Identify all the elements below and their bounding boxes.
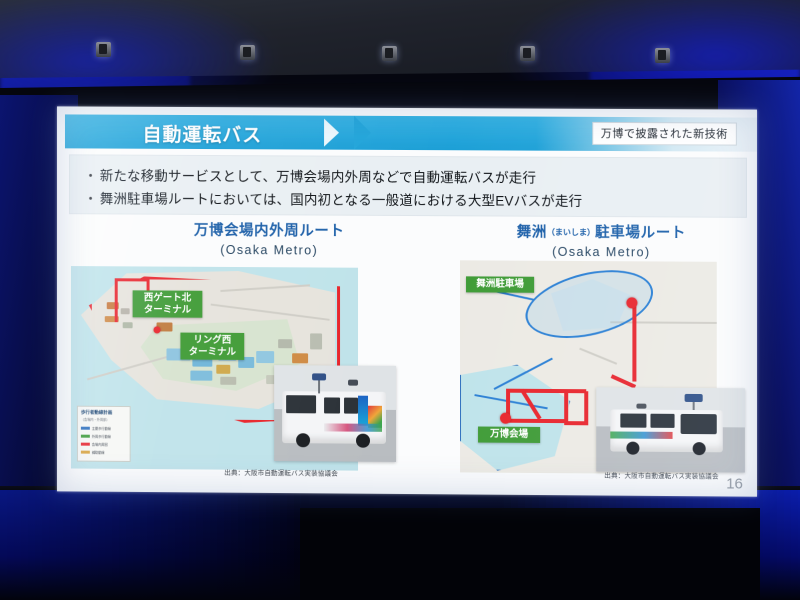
curtain-pleat [70,490,77,600]
curtain-pleat [182,490,189,600]
curtain-pleat [791,490,798,600]
slide: 自動運転バス 万博で披露された新技術 ・新たな移動サービスとして、万博会場内外周… [57,106,757,496]
curtain-pleat [105,490,112,600]
ceiling-spotlight [96,42,111,57]
curtain-pleat [175,490,182,600]
map-label-expo-site: 万博会場 [478,427,540,443]
ceiling-spotlight [520,46,535,61]
bus-wheel [693,442,706,455]
route-segment [115,278,149,281]
curtain-pleat [7,490,14,600]
legend-swatch [81,451,90,454]
stage-floor [300,508,760,600]
curtain-pleat [189,490,196,600]
ceiling-spotlight [382,46,397,61]
bus-windshield [286,395,316,413]
bus-livery-stripe [324,423,382,431]
map-legend: 歩行者動線計画 （会場内・外周部） 主要歩行動線 外周歩行動線 会場内周回 補助… [77,406,131,462]
curtain-pleat [231,490,238,600]
curtain-pleat [35,490,42,600]
route-segment [564,421,588,425]
curtain-pleat [56,490,63,600]
lidar-sensor [685,394,703,402]
bullet-panel: ・新たな移動サービスとして、万博会場内外周などで自動運転バスが走行 ・舞洲駐車場… [69,154,747,218]
curtain-pleat [266,490,273,600]
section-title-en: (Osaka Metro) [145,243,394,258]
legend-swatch [81,427,90,430]
curtain-pleat [119,490,126,600]
stage-curtains [0,490,800,600]
curtain-pleat [77,490,84,600]
legend-swatch [81,435,90,438]
bus-window [324,397,340,413]
ceiling [0,0,800,78]
curtain-pleat [63,490,70,600]
page-number: 16 [726,475,743,492]
photo-autonomous-bus-expo [274,365,396,462]
curtain-pleat [196,490,203,600]
photo-ev-bus-maishima [596,387,745,472]
route-endpoint-expo [500,413,511,424]
curtain-pleat [245,490,252,600]
curtain-pleat [154,490,161,600]
ceiling-spotlight [655,48,670,63]
legend-label: 主要歩行動線 [92,426,111,431]
legend-swatch [81,443,90,446]
source-credit-right: 出典：大阪市自動運転バス実装協議会 [604,469,718,480]
curtain-pleat [224,490,231,600]
curtain-pleat [0,490,7,600]
section-title-jp: 万博会場内外周ルート [145,219,394,241]
route-segment [584,391,588,425]
curtain-pleat [14,490,21,600]
bullet-item: ・舞洲駐車場ルートにおいては、国内初となる一般道における大型EVバスが走行 [84,187,583,210]
bus-wheel [356,434,370,448]
legend-label: 補助動線 [92,450,105,455]
curtain-pleat [161,490,168,600]
map-label-west-gate-north-terminal: 西ゲート北 ターミナル [133,290,203,317]
bus-windshield [681,414,717,434]
section-title-jp: 舞洲（まいしま）駐車場ルート [476,220,727,242]
curtain-pleat [777,490,784,600]
bus-wheel [626,442,639,455]
bullet-item: ・新たな移動サービスとして、万博会場内外周などで自動運転バスが走行 [84,164,536,186]
ceiling-spotlight [240,45,255,60]
curtain-pleat [259,490,266,600]
chevron-right-icon [324,119,339,147]
route-stop-dot [154,326,161,333]
curtain-pleat [210,490,217,600]
curtain-pleat [770,490,777,600]
curtain-pleat [21,490,28,600]
curtain-pleat [217,490,224,600]
curtain-pleat [140,490,147,600]
legend-label: 会場内周回 [92,442,108,447]
curtain-pleat [252,490,259,600]
bus-window [344,398,358,414]
curtain-pleat [168,490,175,600]
curtain-pleat [784,490,791,600]
curtain-pleat [98,490,105,600]
curtain-pleat [238,490,245,600]
route-segment [506,389,586,394]
curtain-pleat [49,490,56,600]
bus-livery-stripe [610,431,672,438]
curtain-pleat [147,490,154,600]
map-label-maishima-parking: 舞洲駐車場 [466,276,534,292]
bullet-marker: ・ [84,187,100,207]
ruby-annotation: （まいしま） [547,228,595,237]
bus-livery-stripe [358,396,368,426]
legend-title: 歩行者動線計画 [81,410,112,416]
route-endpoint-maishima [626,297,637,308]
legend-subtitle: （会場内・外周部） [81,417,110,422]
page-title: 自動運転バス [143,120,263,148]
bus-wheel [296,433,310,447]
section-heading-left: 万博会場内外周ルート (Osaka Metro) [145,219,394,258]
bullet-text: 新たな移動サービスとして、万博会場内外周などで自動運転バスが走行 [100,168,536,185]
source-credit-left: 出典：大阪市自動運転バス実装協議会 [224,467,338,478]
curtain-pleat [203,490,210,600]
route-segment [564,393,568,423]
map-label-ring-west-terminal: リング西 ターミナル [180,333,244,360]
section-title-en: (Osaka Metro) [476,244,727,259]
curtain-pleat [126,490,133,600]
bullet-text: 舞洲駐車場ルートにおいては、国内初となる一般道における大型EVバスが走行 [100,191,583,209]
curtain-pleat [112,490,119,600]
curtain-pleat [280,490,287,600]
curtain-pleat [287,490,294,600]
bus-window [650,414,674,428]
roof-sensor [636,404,646,409]
roof-sensor [348,380,358,386]
curtain-pleat [42,490,49,600]
legend-label: 外周歩行動線 [92,434,111,439]
route-segment [632,303,636,381]
curtain-pleat [84,490,91,600]
curtain-pleat [91,490,98,600]
curtain-pleat [273,490,280,600]
curtain-pleat [28,490,35,600]
section-heading-right: 舞洲（まいしま）駐車場ルート (Osaka Metro) [476,220,727,259]
lidar-sensor [312,373,326,380]
slide-title-row: 自動運転バス 万博で披露された新技術 [57,114,757,151]
bus-window [620,414,646,428]
curtain-pleat [763,490,770,600]
projection-screen: 自動運転バス 万博で披露された新技術 ・新たな移動サービスとして、万博会場内外周… [57,106,757,496]
curtain-pleat [133,490,140,600]
route-segment [115,278,118,322]
bullet-marker: ・ [84,164,100,184]
status-badge: 万博で披露された新技術 [592,122,737,146]
